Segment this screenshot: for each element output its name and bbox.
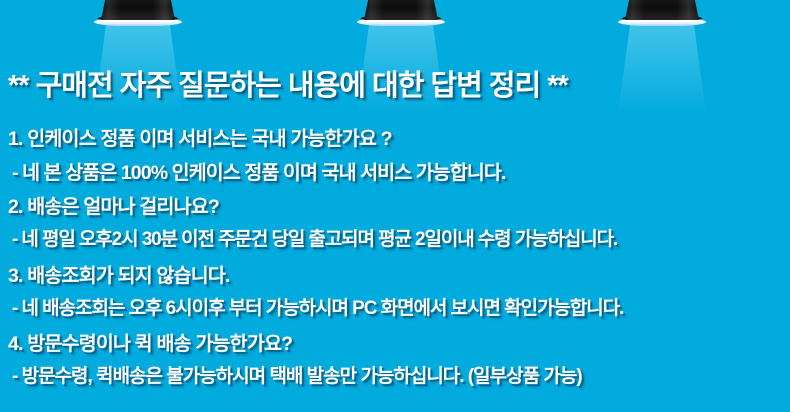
faq-question-3: 3. 배송조회가 되지 않습니다. <box>8 259 230 288</box>
faq-answer-2: - 네 평일 오후2시 30분 이전 주문건 당일 출고되며 평균 2일이내 수… <box>12 224 617 251</box>
light-cone-icon <box>618 22 706 114</box>
faq-answer-3: - 네 배송조회는 오후 6시이후 부터 가능하시며 PC 화면에서 보시면 확… <box>12 293 623 320</box>
faq-answer-1: - 네 본 상품은 100% 인케이스 정품 이며 국내 서비스 가능합니다. <box>12 156 505 185</box>
faq-question-4: 4. 방문수령이나 퀵 배송 가능한가요? <box>8 327 292 356</box>
lamp-shade-gloss <box>364 0 438 20</box>
faq-question-2: 2. 배송은 얼마나 걸리나요? <box>8 190 219 219</box>
page-title: ** 구매전 자주 질문하는 내용에 대한 답변 정리 ** <box>8 62 568 104</box>
faq-answer-4: - 방문수령, 퀵배송은 불가능하시며 택배 발송만 가능하십니다. (일부상품… <box>12 361 582 388</box>
faq-question-1: 1. 인케이스 정품 이며 서비스는 국내 가능한가요 ? <box>8 122 392 151</box>
faq-banner: ** 구매전 자주 질문하는 내용에 대한 답변 정리 ** 1. 인케이스 정… <box>0 0 790 412</box>
lamp-shade-gloss <box>625 0 699 20</box>
lamp-shade-gloss <box>101 0 175 20</box>
